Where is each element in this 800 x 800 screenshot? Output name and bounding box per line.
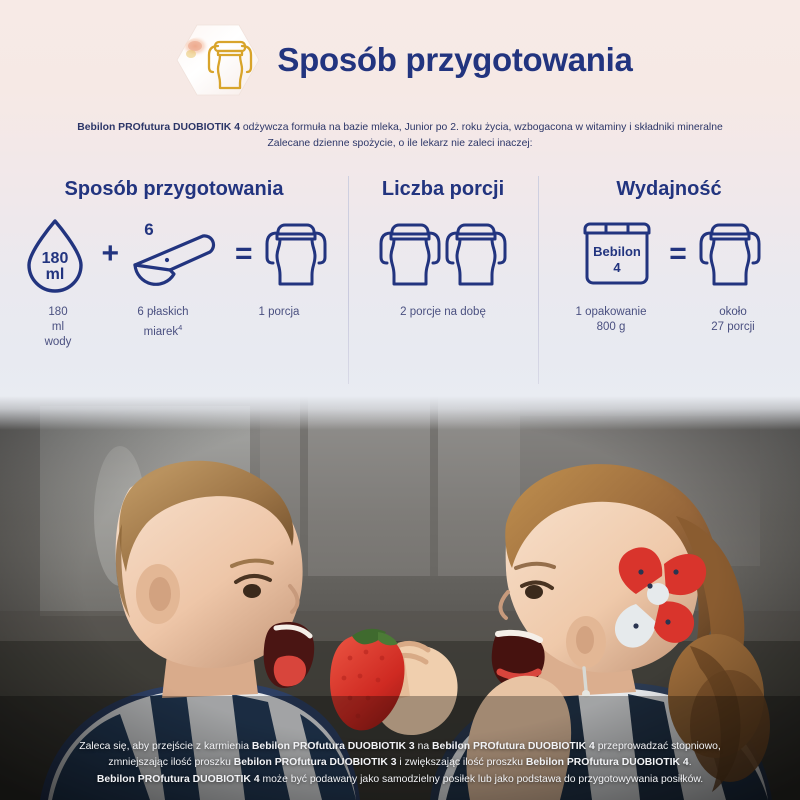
footer-line-1: Zaleca się, aby przejście z karmienia Be…	[30, 739, 770, 756]
footer-disclaimer: Zaleca się, aby przejście z karmienia Be…	[30, 739, 770, 789]
column-yield-captions: 1 opakowanie 800 g około 27 porcji	[538, 305, 800, 335]
column-yield-icons: Bebilon 4 =	[575, 215, 763, 293]
caption-package-line2: 800 g	[547, 320, 675, 335]
caption-servings-per-day: 2 porcje na dobę	[400, 305, 486, 320]
caption-water-unit: ml	[15, 320, 101, 335]
column-yield-heading: Wydajność	[616, 178, 721, 201]
top-panel: Sposób przygotowania Bebilon PROfutura D…	[0, 0, 800, 404]
intro-line-2: Zalecane dzienne spożycie, o ile lekarz …	[50, 136, 750, 152]
sippy-cup-hexagon-badge-icon	[167, 19, 263, 101]
scoop-icon: 6	[129, 215, 225, 293]
operator-equals-a: =	[225, 239, 263, 269]
column-servings-icons	[377, 215, 509, 293]
caption-portions-count: około 27 porcji	[675, 305, 791, 335]
intro-product-name: Bebilon PROfutura DUOBIOTIK 4	[77, 122, 240, 133]
caption-scoops-line2: miarek4	[101, 320, 225, 340]
column-preparation-icons: 180 ml + 6 =	[19, 215, 328, 293]
caption-scoops: 6 płaskich miarek4	[101, 305, 225, 340]
footer-seg-1: Zaleca się, aby przejście z karmienia	[79, 741, 252, 752]
footer-line-2: zmniejszając ilość proszku Bebilon PROfu…	[30, 755, 770, 772]
header: Sposób przygotowania	[0, 22, 800, 98]
caption-scoops-footnote: 4	[178, 323, 182, 332]
footer-seg-4: zmniejszając ilość proszku	[108, 757, 233, 768]
sippy-cup-icon	[443, 215, 509, 293]
caption-scoops-word: miarek	[144, 326, 179, 338]
columns-row: Sposób przygotowania 180 ml + 6	[0, 176, 800, 386]
caption-portion: 1 porcja	[225, 305, 333, 320]
caption-portions-line1: około	[675, 305, 791, 320]
drop-unit: ml	[46, 266, 65, 283]
sippy-cup-icon	[263, 215, 329, 293]
sippy-cup-icon	[697, 215, 763, 293]
intro-line-1-rest: odżywcza formuła na bazie mleka, Junior …	[240, 122, 723, 133]
caption-water-word: wody	[15, 335, 101, 350]
caption-portion-text: 1 porcja	[225, 305, 333, 320]
footer-seg-5: i zwiększając ilość proszku	[397, 757, 526, 768]
page-title: Sposób przygotowania	[277, 41, 632, 79]
footer-bold-4: Bebilon PROfutura DUOBIOTIK 4	[526, 757, 689, 768]
column-preparation-captions: 180 ml wody 6 płaskich miarek4 1 porcja	[0, 305, 348, 350]
footer-seg-7: może być podawany jako samodzielny posił…	[260, 774, 704, 785]
footer-seg-6: .	[689, 757, 692, 768]
operator-plus: +	[91, 239, 129, 269]
caption-scoops-line1: 6 płaskich	[101, 305, 225, 320]
column-preparation: Sposób przygotowania 180 ml + 6	[0, 176, 348, 386]
scoop-count: 6	[144, 220, 153, 239]
column-servings-captions: 2 porcje na dobę	[348, 305, 538, 320]
intro-paragraph: Bebilon PROfutura DUOBIOTIK 4 odżywcza f…	[50, 120, 750, 152]
caption-portions-line2: 27 porcji	[675, 320, 791, 335]
footer-seg-3: przeprowadzać stopniowo,	[595, 741, 721, 752]
formula-tin-icon: Bebilon 4	[575, 215, 659, 293]
water-drop-icon: 180 ml	[19, 215, 91, 293]
children-photo: Zaleca się, aby przejście z karmienia Be…	[0, 396, 800, 800]
footer-bold-3: Bebilon PROfutura DUOBIOTIK 3	[234, 757, 397, 768]
intro-line-1: Bebilon PROfutura DUOBIOTIK 4 odżywcza f…	[50, 120, 750, 136]
footer-bold-5: Bebilon PROfutura DUOBIOTIK 4	[97, 774, 260, 785]
caption-water-amount: 180	[15, 305, 101, 320]
footer-bold-2: Bebilon PROfutura DUOBIOTIK 4	[432, 741, 595, 752]
sippy-cup-icon	[377, 215, 443, 293]
tin-stage-label: 4	[614, 260, 622, 275]
column-servings-heading: Liczba porcji	[382, 178, 504, 201]
column-yield: Wydajność Bebilon 4 =	[538, 176, 800, 386]
caption-package-line1: 1 opakowanie	[547, 305, 675, 320]
infographic-page: Sposób przygotowania Bebilon PROfutura D…	[0, 0, 800, 800]
drop-value-ml: 180	[42, 250, 69, 267]
column-preparation-heading: Sposób przygotowania	[65, 178, 284, 201]
caption-package: 1 opakowanie 800 g	[547, 305, 675, 335]
column-servings: Liczba porcji	[348, 176, 538, 386]
operator-equals-c: =	[659, 239, 697, 269]
tin-brand-label: Bebilon	[593, 244, 641, 259]
caption-water: 180 ml wody	[15, 305, 101, 350]
footer-seg-2: na	[415, 741, 432, 752]
footer-bold-1: Bebilon PROfutura DUOBIOTIK 3	[252, 741, 415, 752]
footer-line-3: Bebilon PROfutura DUOBIOTIK 4 może być p…	[30, 772, 770, 789]
